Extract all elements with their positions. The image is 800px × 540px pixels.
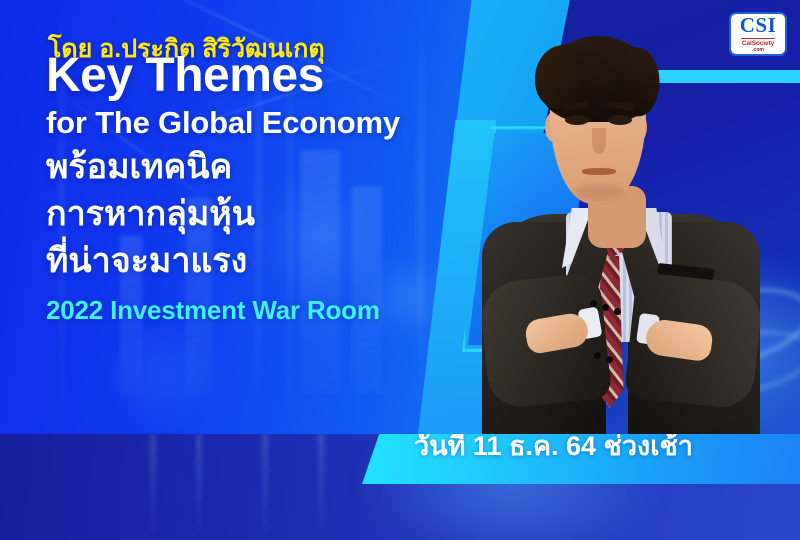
- title-line-2: for The Global Economy: [46, 106, 516, 141]
- date-banner: วันที่ 11 ธ.ค. 64 ช่วงเช้า: [362, 434, 800, 484]
- date-text: วันที่ 11 ธ.ค. 64 ช่วงเช้า: [414, 434, 693, 462]
- thai-line-3: ที่น่าจะมาแรง: [46, 240, 516, 282]
- title-line-1: Key Themes: [46, 52, 516, 100]
- logo-domain-text: .com: [752, 48, 764, 53]
- thai-line-2: การหากลุ่มหุ้น: [46, 193, 516, 235]
- thai-line-1: พร้อมเทคนิค: [46, 146, 516, 188]
- bottom-band: วันที่ 11 ธ.ค. 64 ช่วงเช้า: [0, 434, 800, 540]
- promotional-banner: CSI CalSociety .com Key Themes for The G…: [0, 0, 800, 540]
- logo-mark-text: CSI: [740, 15, 777, 36]
- event-subtitle: 2022 Investment War Room: [46, 296, 516, 325]
- csi-logo[interactable]: CSI CalSociety .com: [729, 12, 787, 56]
- headline-block: Key Themes for The Global Economy พร้อมเ…: [46, 52, 516, 325]
